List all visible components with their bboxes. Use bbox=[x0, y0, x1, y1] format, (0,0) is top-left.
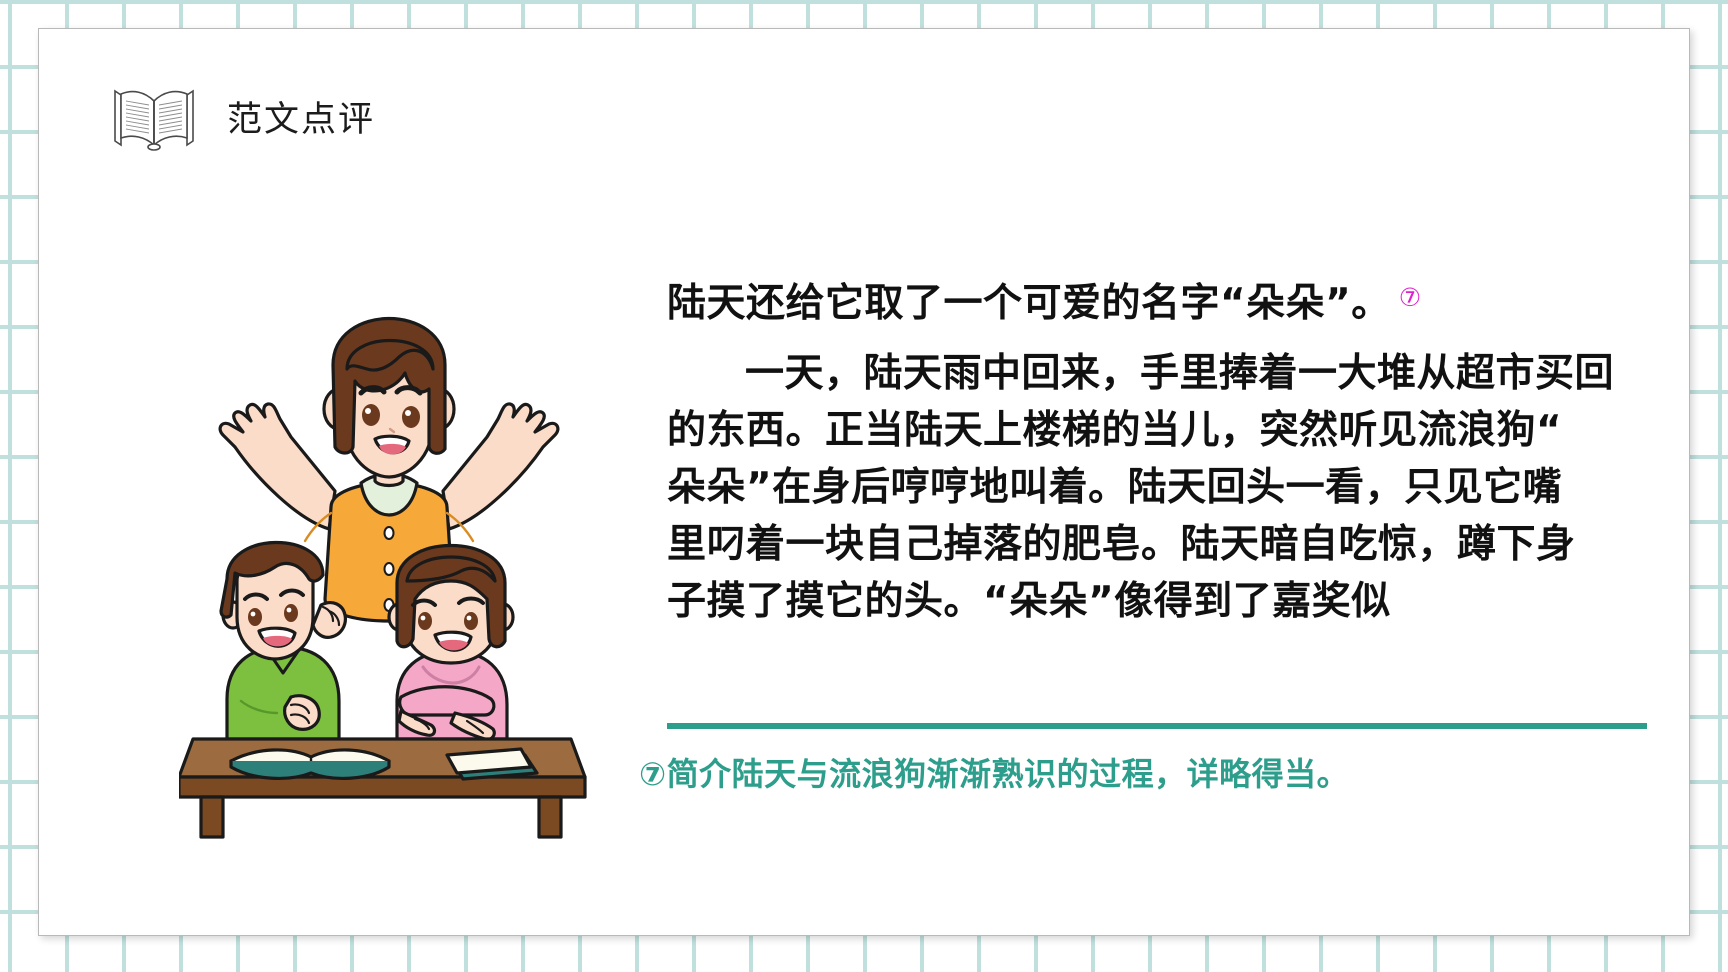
essay-line: 里叼着一块自己掉落的肥皂。陆天暗自吃惊，蹲下身 bbox=[667, 516, 1647, 573]
essay-first-line: 陆天还给它取了一个可爱的名字“朵朵”。⑦ bbox=[667, 275, 1647, 332]
open-book-icon bbox=[107, 81, 201, 151]
marker-7-icon: ⑦ bbox=[1399, 269, 1422, 326]
essay-text-block: 陆天还给它取了一个可爱的名字“朵朵”。⑦ 一天，陆天雨中回来，手里捧着一大堆从超… bbox=[667, 275, 1647, 630]
section-divider bbox=[667, 723, 1647, 729]
slide-canvas: 范文点评 bbox=[0, 0, 1728, 972]
essay-line: 一天，陆天雨中回来，手里捧着一大堆从超市买回 bbox=[667, 345, 1647, 402]
annotation-text: ⑦简介陆天与流浪狗渐渐熟识的过程，详略得当。 bbox=[639, 749, 1659, 795]
classroom-illustration bbox=[179, 269, 599, 849]
essay-line: 的东西。正当陆天上楼梯的当儿，突然听见流浪狗“ bbox=[667, 402, 1647, 459]
header: 范文点评 bbox=[107, 81, 375, 151]
essay-line: 朵朵”在身后哼哼地叫着。陆天回头一看，只见它嘴 bbox=[667, 459, 1647, 516]
page-title: 范文点评 bbox=[227, 91, 375, 142]
content-card: 范文点评 bbox=[38, 28, 1690, 936]
essay-line: 子摸了摸它的头。“朵朵”像得到了嘉奖似 bbox=[667, 573, 1647, 630]
essay-first-line-text: 陆天还给它取了一个可爱的名字“朵朵”。 bbox=[667, 281, 1391, 326]
